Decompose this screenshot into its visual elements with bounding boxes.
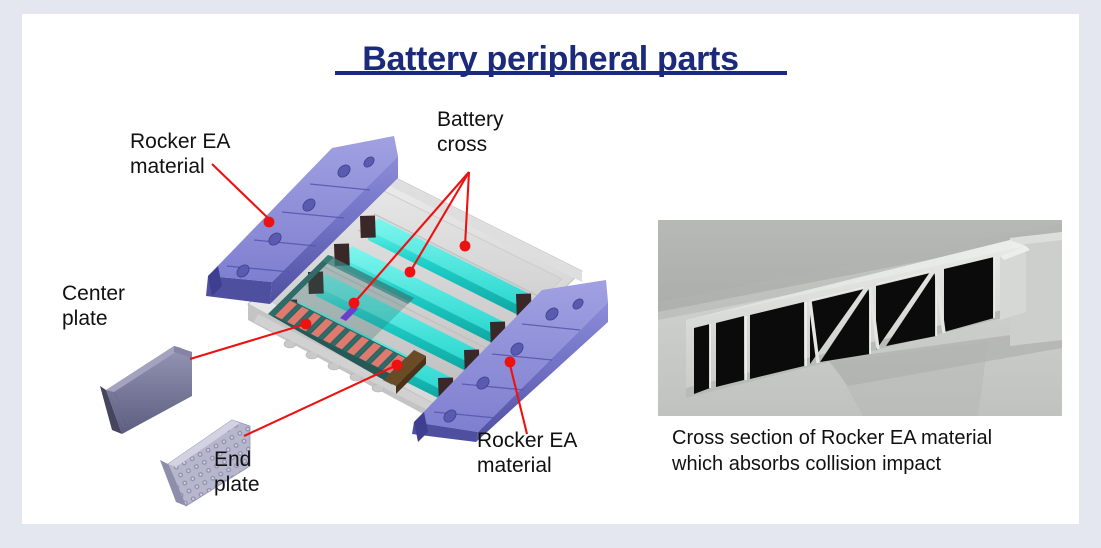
- leader-dot-rocker-lower: [505, 357, 516, 368]
- rocker-cross-section-photo: [658, 220, 1062, 416]
- slide-root: Battery peripheral parts: [0, 0, 1101, 548]
- leader-dot-cross-3: [460, 241, 471, 252]
- label-rocker-ea-bottom: Rocker EA material: [477, 429, 577, 479]
- leader-dot-rocker-upper: [264, 217, 275, 228]
- photo-caption: Cross section of Rocker EA material whic…: [672, 426, 1042, 477]
- label-center-plate: Center plate: [62, 282, 125, 332]
- label-battery-cross: Battery cross: [437, 108, 504, 158]
- leader-dot-center-plate: [301, 319, 312, 330]
- label-end-plate: End plate: [214, 448, 260, 498]
- leader-dot-cross-1: [349, 298, 360, 309]
- leader-dot-cross-2: [405, 267, 416, 278]
- label-rocker-ea-top: Rocker EA material: [130, 130, 230, 180]
- slide-card: Battery peripheral parts: [22, 14, 1079, 524]
- center-plate: [100, 346, 192, 434]
- leader-dot-end-plate: [392, 360, 403, 371]
